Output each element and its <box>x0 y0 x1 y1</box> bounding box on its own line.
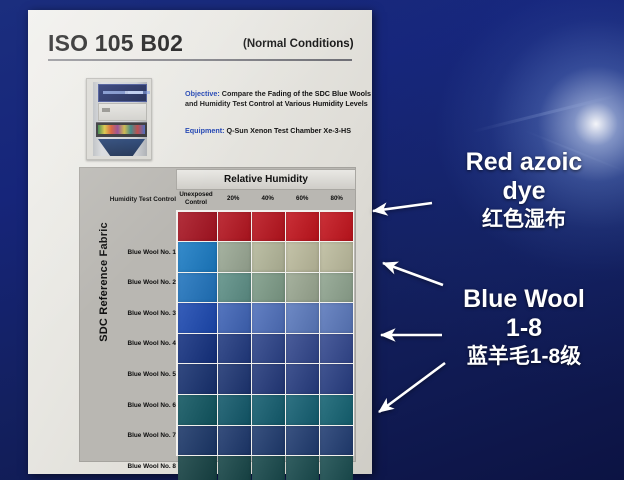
swatch-r3-c1 <box>178 273 217 303</box>
row-label-blue-wool-no-6: Blue Wool No. 6 <box>104 402 176 409</box>
objective-text: Objective: Compare the Fading of the SDC… <box>185 89 377 108</box>
callout-red-line1: Red azoic <box>466 148 583 176</box>
swatch-r5-c4 <box>286 334 319 364</box>
swatch-r9-c2 <box>218 456 251 480</box>
equipment-text: Equipment: Q-Sun Xenon Test Chamber Xe-3… <box>185 126 377 136</box>
column-header-40pct: 40% <box>251 189 286 208</box>
relative-humidity-header: Relative Humidity <box>176 169 356 190</box>
callout-blue-wool: Blue Wool 1-8 蓝羊毛1-8级 <box>436 285 612 370</box>
swatch-r5-c5 <box>320 334 353 364</box>
callout-red-azoic-dye: Red azoic dye 红色湿布 <box>436 148 612 233</box>
swatch-row <box>177 303 353 334</box>
chamber-door <box>98 103 147 121</box>
slide-background: ISO 105 B02 (Normal Conditions) Objectiv… <box>0 0 624 480</box>
swatch-r8-c1 <box>178 426 217 456</box>
row-label-blue-wool-no-8: Blue Wool No. 8 <box>104 463 176 470</box>
row-label-blue-wool-no-4: Blue Wool No. 4 <box>104 340 176 347</box>
swatch-row <box>177 395 353 426</box>
chamber-control-panel <box>98 84 147 102</box>
objective-label: Objective: <box>185 89 220 98</box>
poster-subtitle: (Normal Conditions) <box>243 38 354 50</box>
swatch-r7-c3 <box>252 395 285 425</box>
row-label-blue-wool-no-3: Blue Wool No. 3 <box>104 310 176 317</box>
column-header-60pct: 60% <box>285 189 320 208</box>
swatch-grid <box>176 210 354 456</box>
callout-red-chinese: 红色湿布 <box>436 207 612 233</box>
swatch-r9-c4 <box>286 456 319 480</box>
iso-poster: ISO 105 B02 (Normal Conditions) Objectiv… <box>28 10 372 474</box>
swatch-r2-c5 <box>320 242 353 272</box>
swatch-r6-c5 <box>320 364 353 394</box>
swatch-r1-c5 <box>320 212 353 242</box>
swatch-row <box>177 272 353 303</box>
swatch-r4-c2 <box>218 303 251 333</box>
chamber-sample-drawer <box>96 122 147 137</box>
swatch-r9-c5 <box>320 456 353 480</box>
swatch-row <box>177 333 353 364</box>
swatch-r4-c4 <box>286 303 319 333</box>
swatch-r6-c1 <box>178 364 217 394</box>
swatch-r1-c3 <box>252 212 285 242</box>
swatch-r3-c5 <box>320 273 353 303</box>
swatch-r6-c2 <box>218 364 251 394</box>
equipment-label: Equipment: <box>185 126 225 135</box>
swatch-r9-c1 <box>178 456 217 480</box>
callout-blue-line2: 1-8 <box>506 314 542 342</box>
swatch-row <box>177 425 353 456</box>
test-chamber-photo <box>86 78 152 160</box>
row-label-column: Humidity Test ControlBlue Wool No. 1Blue… <box>104 208 176 457</box>
swatch-r4-c1 <box>178 303 217 333</box>
poster-title: ISO 105 B02 <box>48 30 183 57</box>
swatch-r5-c2 <box>218 334 251 364</box>
swatch-r7-c4 <box>286 395 319 425</box>
swatch-r7-c2 <box>218 395 251 425</box>
swatch-row <box>177 364 353 395</box>
callout-blue-chinese: 蓝羊毛1-8级 <box>436 344 612 370</box>
swatch-row <box>177 456 353 480</box>
column-header-unexposed-control: Unexposed Control <box>176 189 216 208</box>
row-label-blue-wool-no-1: Blue Wool No. 1 <box>104 249 176 256</box>
swatch-r3-c2 <box>218 273 251 303</box>
lens-flare-streak <box>472 94 618 133</box>
equipment-body: Q-Sun Xenon Test Chamber Xe-3-HS <box>225 126 351 135</box>
swatch-r2-c1 <box>178 242 217 272</box>
row-label-humidity-test-control: Humidity Test Control <box>104 196 176 203</box>
swatch-r3-c4 <box>286 273 319 303</box>
swatch-r9-c3 <box>252 456 285 480</box>
row-label-blue-wool-no-7: Blue Wool No. 7 <box>104 432 176 439</box>
swatch-r8-c2 <box>218 426 251 456</box>
swatch-r1-c1 <box>178 212 217 242</box>
swatch-row <box>177 242 353 273</box>
swatch-r7-c1 <box>178 395 217 425</box>
title-divider <box>48 59 352 61</box>
swatch-r2-c4 <box>286 242 319 272</box>
column-header-20pct: 20% <box>216 189 251 208</box>
swatch-r4-c3 <box>252 303 285 333</box>
callout-red-line2: dye <box>502 177 545 205</box>
row-label-blue-wool-no-5: Blue Wool No. 5 <box>104 371 176 378</box>
table-header: Relative Humidity Unexposed Control20%40… <box>176 169 354 209</box>
swatch-r5-c1 <box>178 334 217 364</box>
swatch-r1-c4 <box>286 212 319 242</box>
swatch-r7-c5 <box>320 395 353 425</box>
swatch-r6-c3 <box>252 364 285 394</box>
humidity-column-headers: Unexposed Control20%40%60%80% <box>176 189 354 208</box>
callout-blue-line1: Blue Wool <box>463 285 585 313</box>
column-header-80pct: 80% <box>320 189 355 208</box>
swatch-r6-c4 <box>286 364 319 394</box>
swatch-r2-c3 <box>252 242 285 272</box>
chamber-color-samples <box>98 125 145 134</box>
swatch-r8-c3 <box>252 426 285 456</box>
results-panel: SDC Reference Fabric Relative Humidity U… <box>79 167 356 462</box>
swatch-r5-c3 <box>252 334 285 364</box>
arrow-to-blue-wool-upper <box>383 263 443 285</box>
swatch-r1-c2 <box>218 212 251 242</box>
swatch-row <box>177 211 353 242</box>
row-label-blue-wool-no-2: Blue Wool No. 2 <box>104 279 176 286</box>
swatch-r2-c2 <box>218 242 251 272</box>
swatch-r8-c4 <box>286 426 319 456</box>
arrow-to-humidity-test-control <box>373 203 432 211</box>
arrow-to-blue-wool-lower <box>379 363 445 412</box>
swatch-r8-c5 <box>320 426 353 456</box>
swatch-r4-c5 <box>320 303 353 333</box>
swatch-r3-c3 <box>252 273 285 303</box>
